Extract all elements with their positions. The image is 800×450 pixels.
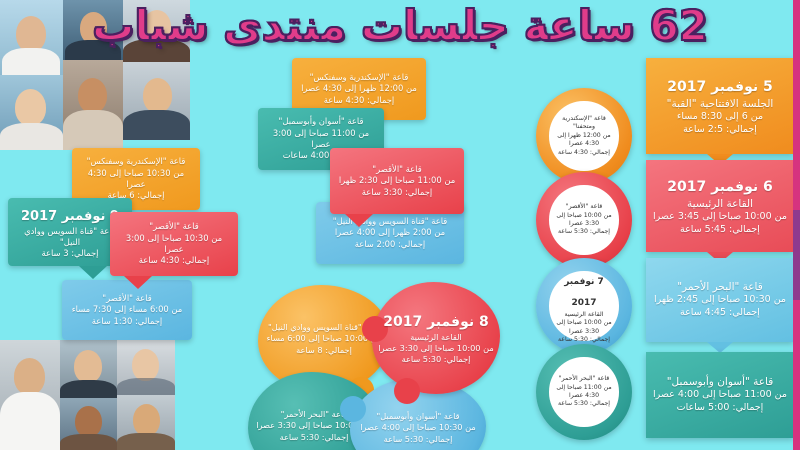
card-text: قاعة "البحر الأحمر" من 10:30 صباحا إلى 2… bbox=[648, 280, 792, 320]
edge-segment-magenta bbox=[793, 0, 800, 210]
card-total: إجمالي: 2:5 ساعة bbox=[667, 124, 774, 137]
bubble-time: من 6:00 مساء إلى 7:30 مساء bbox=[72, 304, 183, 315]
circle-inner: قاعة "الإسكندرية ومتحفنا" من 12:00 ظهرا … bbox=[549, 101, 618, 170]
bubble-total: إجمالي: 4:30 ساعة bbox=[116, 255, 232, 266]
bubble-time: من 10:30 صباحا إلى 4:30 عصرا bbox=[78, 168, 194, 191]
card-text: 5 نوفمبر 2017 الجلسة الافتتاحية "القبة" … bbox=[661, 75, 780, 137]
photo-collage-bottom-left bbox=[0, 340, 175, 450]
puzzle-total: إجمالي: 5:30 ساعة bbox=[378, 354, 494, 365]
bubble-date: 9 نوفمبر 2017 bbox=[21, 209, 119, 224]
circle-inner: 7 نوفمبر 2017 القاعة الرئيسية من 10:00 ص… bbox=[549, 271, 618, 340]
circle-total: إجمالي: 5:30 ساعة bbox=[555, 228, 612, 236]
bubble-text: قاعة "الأقصر" من 11:00 صباحا إلى 2:30 ظه… bbox=[333, 164, 461, 198]
circle-text: قاعة "البحر الأحمر" من 11:00 صباحا إلى 4… bbox=[549, 375, 618, 408]
bubble-time: من 10:30 صباحا إلى 3:00 عصرا bbox=[116, 233, 232, 256]
bubble-total: إجمالي: 3:30 ساعة bbox=[339, 187, 455, 198]
bubble-luxor-evening[interactable]: قاعة "الأقصر" من 6:00 مساء إلى 7:30 مساء… bbox=[62, 280, 192, 340]
bubble-total: إجمالي: 2:00 ساعة bbox=[333, 239, 448, 250]
card-text: قاعة "أسوان وأبوسمبل" من 11:00 صباحا إلى… bbox=[647, 375, 793, 415]
portrait-photo bbox=[63, 0, 123, 60]
puzzle-total: إجمالي: 5:30 ساعة bbox=[360, 434, 476, 445]
portrait-photo bbox=[0, 340, 60, 450]
card-venue: الجلسة الافتتاحية "القبة" bbox=[667, 97, 774, 111]
circle-text: قاعة "الإسكندرية ومتحفنا" من 12:00 ظهرا … bbox=[549, 115, 618, 157]
bubble-tail-icon bbox=[79, 266, 107, 279]
card-total: إجمالي: 5:00 ساعات bbox=[653, 402, 787, 415]
bubble-luxor-top[interactable]: قاعة "الأقصر" من 11:00 صباحا إلى 2:30 ظه… bbox=[330, 148, 464, 214]
schedule-card-aswan[interactable]: قاعة "أسوان وأبوسمبل" من 11:00 صباحا إلى… bbox=[646, 352, 794, 438]
bubble-venue: قاعة "الإسكندرية وسفنكس" bbox=[78, 156, 194, 167]
portrait-photo bbox=[0, 75, 63, 150]
portrait-photo bbox=[60, 398, 117, 450]
edge-segment-purple bbox=[793, 210, 800, 300]
card-date: 5 نوفمبر 2017 bbox=[667, 79, 772, 95]
portrait-photo bbox=[117, 395, 175, 450]
puzzle-text: 8 نوفمبر 2017 القاعة الرئيسية من 10:00 ص… bbox=[372, 310, 500, 365]
circle-inner: قاعة "البحر الأحمر" من 11:00 صباحا إلى 4… bbox=[549, 357, 618, 426]
puzzle-date: 8 نوفمبر 2017 bbox=[383, 314, 488, 330]
puzzle-total: إجمالي: 8 ساعة bbox=[267, 345, 382, 356]
bubble-tail-icon bbox=[124, 276, 152, 289]
portrait-photo bbox=[63, 60, 123, 150]
portrait-photo bbox=[117, 340, 175, 395]
circle-total: إجمالي: 5:30 ساعة bbox=[555, 400, 612, 408]
card-total: إجمالي: 4:45 ساعة bbox=[654, 307, 786, 320]
puzzle-venue: قاعة "أسوان وأبوسمبل" bbox=[360, 411, 476, 422]
card-time: من 10:00 صباحا إلى 3:45 عصرا bbox=[653, 211, 787, 224]
schedule-circle-red-sea[interactable]: قاعة "البحر الأحمر" من 11:00 صباحا إلى 4… bbox=[536, 344, 632, 440]
card-time: من 11:00 صباحا إلى 4:00 عصرا bbox=[653, 389, 787, 402]
bubble-text: قاعة "الإسكندرية وسفنكس" من 12:00 ظهرا إ… bbox=[295, 72, 423, 106]
bubble-time: من 12:00 ظهرا إلى 4:30 عصرا bbox=[301, 83, 417, 94]
bubble-total: إجمالي: 4:30 ساعة bbox=[301, 95, 417, 106]
schedule-circle-luxor[interactable]: قاعة "الأقصر" من 10:00 صباحا إلى 3:30 عص… bbox=[536, 172, 632, 268]
card-venue: قاعة "البحر الأحمر" bbox=[654, 280, 786, 294]
circle-venue: القاعة الرئيسية bbox=[555, 311, 612, 319]
bubble-luxor-left[interactable]: قاعة "الأقصر" من 10:30 صباحا إلى 3:00 عص… bbox=[110, 212, 238, 276]
card-venue: القاعة الرئيسية bbox=[653, 197, 787, 211]
puzzle-knob bbox=[394, 378, 420, 404]
puzzle-text: قاعة "أسوان وأبوسمبل" من 10:30 صباحا إلى… bbox=[354, 411, 482, 444]
bubble-text: قاعة "الإسكندرية وسفنكس" من 10:30 صباحا … bbox=[72, 156, 200, 201]
puzzle-time: من 10:30 صباحا إلى 4:00 عصرا bbox=[360, 422, 476, 433]
schedule-circle-alexandria[interactable]: قاعة "الإسكندرية ومتحفنا" من 12:00 ظهرا … bbox=[536, 88, 632, 184]
bubble-time: من 11:00 صباحا إلى 2:30 ظهرا bbox=[339, 175, 455, 186]
circle-date: 7 نوفمبر 2017 bbox=[564, 277, 604, 309]
puzzle-time: من 10:00 صباحا إلى 3:30 عصرا bbox=[378, 343, 494, 354]
portrait-photo bbox=[123, 0, 190, 62]
card-total: إجمالي: 5:45 ساعة bbox=[653, 224, 787, 237]
circle-venue: قاعة "البحر الأحمر" bbox=[555, 375, 612, 383]
schedule-circle-nov7-main[interactable]: 7 نوفمبر 2017 القاعة الرئيسية من 10:00 ص… bbox=[536, 258, 632, 354]
circle-text: قاعة "الأقصر" من 10:00 صباحا إلى 3:30 عص… bbox=[549, 203, 618, 236]
card-date: 6 نوفمبر 2017 bbox=[667, 179, 772, 195]
bubble-text: قاعة "الأقصر" من 6:00 مساء إلى 7:30 مساء… bbox=[66, 293, 189, 327]
bubble-time: من 11:00 صباحا إلى 3:00 عصرا bbox=[264, 128, 378, 151]
schedule-card-nov6[interactable]: 6 نوفمبر 2017 القاعة الرئيسية من 10:00 ص… bbox=[646, 160, 794, 252]
circle-inner: قاعة "الأقصر" من 10:00 صباحا إلى 3:30 عص… bbox=[549, 185, 618, 254]
bubble-time: من 2:00 ظهرا إلى 4:00 عصرا bbox=[333, 227, 448, 238]
bubble-total: إجمالي: 1:30 ساعة bbox=[72, 316, 183, 327]
card-time: من 10:30 صباحا إلى 2:45 ظهرا bbox=[654, 294, 786, 307]
bubble-venue: قاعة "الأقصر" bbox=[72, 293, 183, 304]
edge-segment-magenta-2 bbox=[793, 300, 800, 450]
bubble-venue: قاعة "أسوان وأبوسمبل" bbox=[264, 116, 378, 127]
puzzle-venue: القاعة الرئيسية bbox=[378, 332, 494, 343]
right-edge-bar bbox=[793, 0, 800, 450]
circle-venue: قاعة "الإسكندرية ومتحفنا" bbox=[555, 115, 612, 132]
portrait-photo bbox=[60, 340, 117, 398]
bubble-venue: قاعة "الأقصر" bbox=[339, 164, 455, 175]
portrait-photo bbox=[123, 62, 190, 140]
portrait-photo bbox=[0, 0, 63, 75]
circle-time: من 10:00 صباحا إلى 3:30 عصرا bbox=[555, 319, 612, 336]
puzzle-piece-nov8-main[interactable]: 8 نوفمبر 2017 القاعة الرئيسية من 10:00 ص… bbox=[372, 282, 500, 394]
card-time: من 6 إلى 8:30 مساء bbox=[667, 111, 774, 124]
circle-venue: قاعة "الأقصر" bbox=[555, 203, 612, 211]
card-text: 6 نوفمبر 2017 القاعة الرئيسية من 10:00 ص… bbox=[647, 175, 793, 237]
circle-total: إجمالي: 4:30 ساعة bbox=[555, 149, 612, 157]
circle-text: 7 نوفمبر 2017 القاعة الرئيسية من 10:00 ص… bbox=[549, 268, 618, 345]
card-venue: قاعة "أسوان وأبوسمبل" bbox=[653, 375, 787, 389]
infographic-canvas: 62 ساعة جلسات منتدى شباب 5 نوفمبر 2017 ا… bbox=[0, 0, 800, 450]
circle-time: من 12:00 ظهرا إلى 4:30 عصرا bbox=[555, 132, 612, 149]
circle-time: من 10:00 صباحا إلى 3:30 عصرا bbox=[555, 212, 612, 229]
bubble-text: قاعة "الأقصر" من 10:30 صباحا إلى 3:00 عص… bbox=[110, 221, 238, 266]
bubble-venue: قاعة "الأقصر" bbox=[116, 221, 232, 232]
bubble-tail-icon bbox=[345, 214, 373, 227]
bubble-venue: قاعة "الإسكندرية وسفنكس" bbox=[301, 72, 417, 83]
photo-collage-top-left bbox=[0, 0, 190, 150]
circle-time: من 11:00 صباحا إلى 4:30 عصرا bbox=[555, 384, 612, 401]
schedule-card-nov5[interactable]: 5 نوفمبر 2017 الجلسة الافتتاحية "القبة" … bbox=[646, 58, 794, 154]
schedule-card-red-sea[interactable]: قاعة "البحر الأحمر" من 10:30 صباحا إلى 2… bbox=[646, 258, 794, 342]
